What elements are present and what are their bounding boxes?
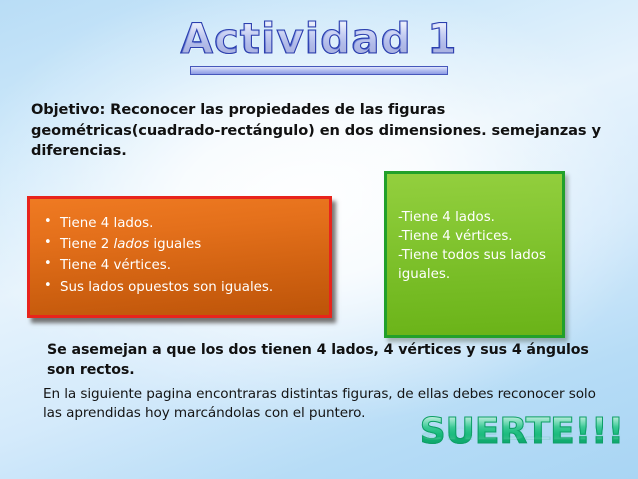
slide-title-block: Actividad 1 [0, 18, 638, 60]
square-properties-list: -Tiene 4 lados. -Tiene 4 vértices. -Tien… [387, 174, 562, 284]
list-item-text: Tiene 4 lados. [60, 216, 153, 231]
list-item: iguales. [398, 265, 556, 284]
title-underline-bar [190, 66, 448, 75]
presentation-slide: Actividad 1 Objetivo: Reconocer las prop… [0, 0, 638, 479]
list-item-text-tail: iguales [149, 237, 201, 252]
list-item: -Tiene 4 lados. [398, 208, 556, 227]
list-item-text: Tiene 2 [60, 237, 113, 252]
page-title: Actividad 1 [175, 18, 464, 60]
objective-text: Objetivo: Reconocer las propiedades de l… [31, 100, 611, 162]
rectangle-properties-box: Tiene 4 lados. Tiene 2 lados iguales Tie… [27, 196, 332, 318]
list-item: Tiene 4 vértices. [60, 255, 321, 276]
list-item-text: Tiene 4 vértices. [60, 258, 171, 273]
rectangle-properties-list: Tiene 4 lados. Tiene 2 lados iguales Tie… [30, 199, 329, 298]
list-item-emphasis: lados [113, 237, 149, 252]
list-item: Sus lados opuestos son iguales. [60, 277, 321, 298]
conclusion-text: Se asemejan a que los dos tienen 4 lados… [47, 341, 613, 381]
closing-message-block: SUERTE!!! SUERTE!!! [420, 414, 624, 477]
list-item: -Tiene 4 vértices. [398, 227, 556, 246]
list-item: Tiene 4 lados. [60, 213, 321, 234]
closing-message-reflection: SUERTE!!! [420, 422, 624, 441]
list-item: -Tiene todos sus lados [398, 246, 556, 265]
square-properties-box: -Tiene 4 lados. -Tiene 4 vértices. -Tien… [384, 171, 565, 338]
list-item-text: Sus lados opuestos son iguales. [60, 280, 273, 295]
list-item: Tiene 2 lados iguales [60, 234, 321, 255]
